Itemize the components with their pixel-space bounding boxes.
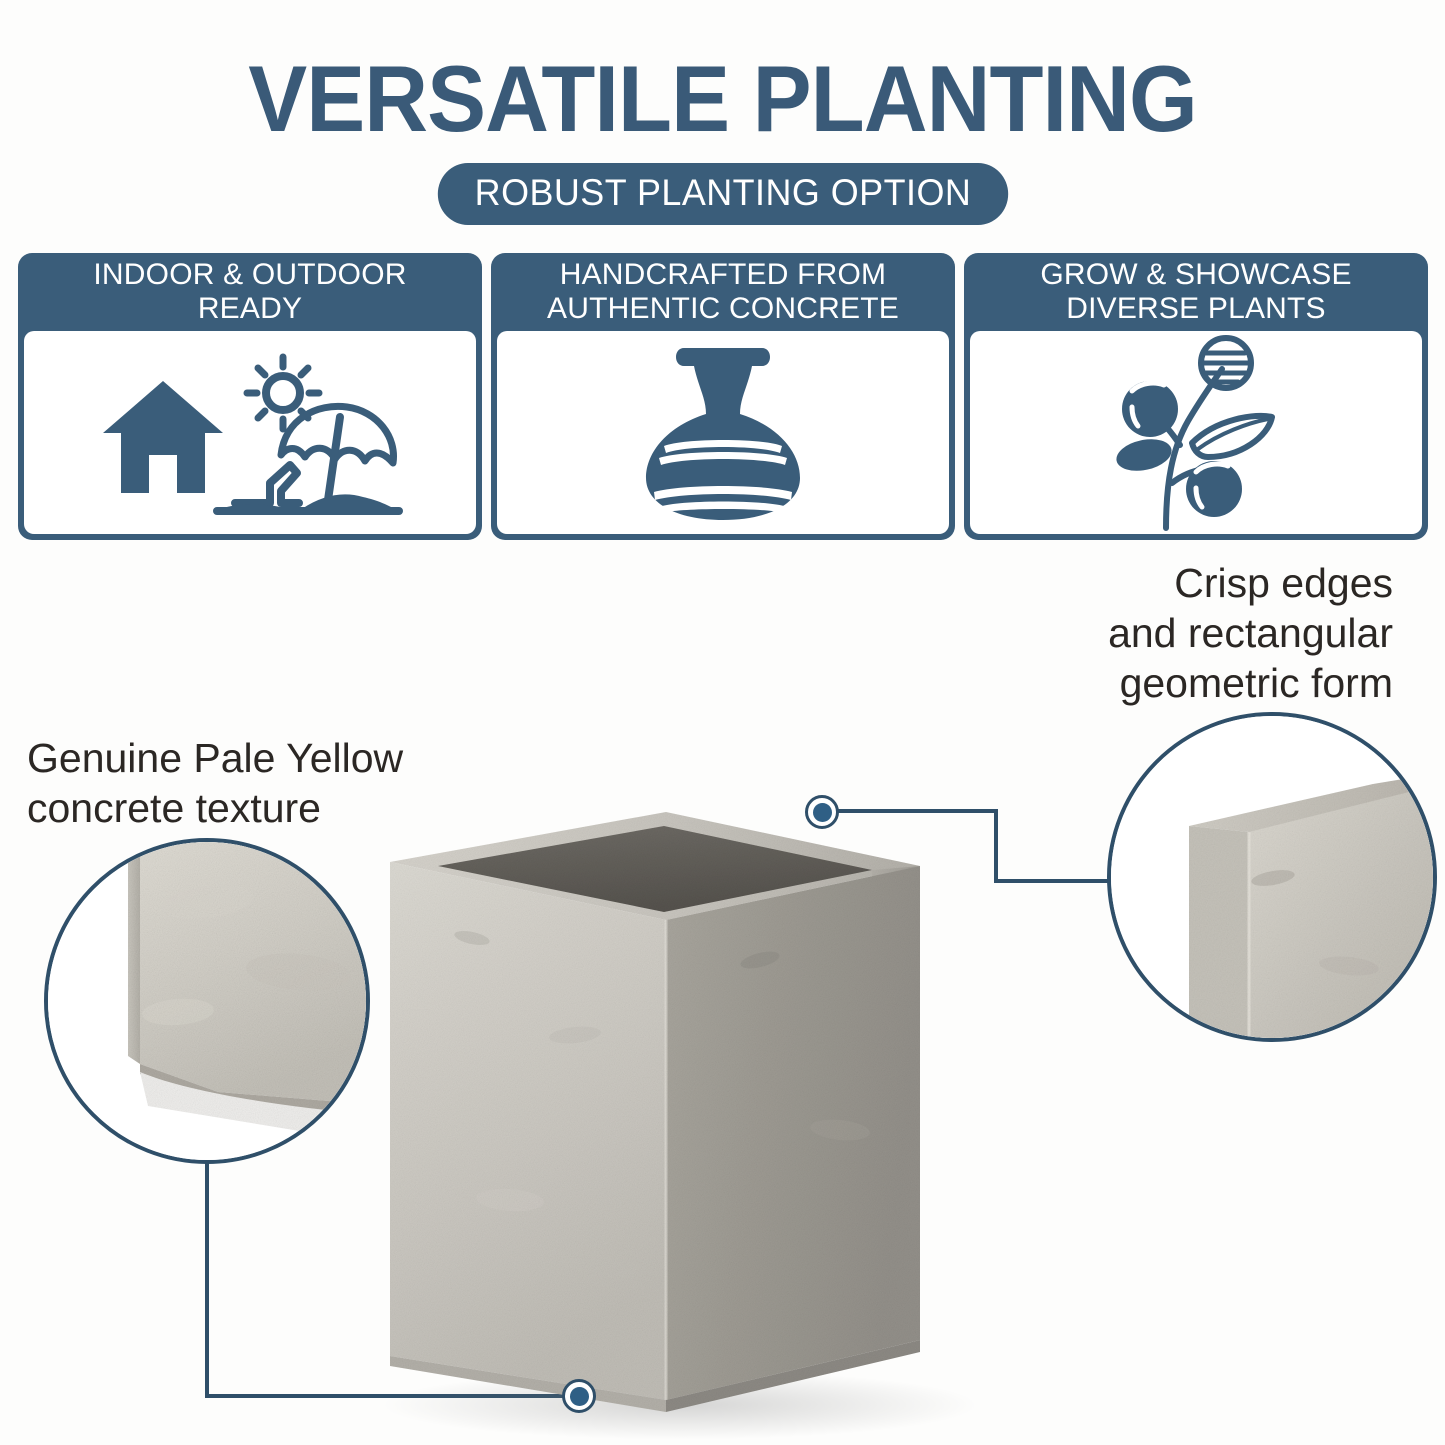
- page-title: VERSATILE PLANTING: [43, 52, 1401, 146]
- feature-icon-slot-1: [24, 331, 476, 534]
- feature-box-diverse-plants: GROW & SHOWCASE DIVERSE PLANTS: [964, 253, 1428, 540]
- callout-circle-crisp-edge: [1107, 712, 1437, 1042]
- berry-branch-plant-icon: [1096, 333, 1296, 533]
- house-sun-beach-umbrella-icon: [85, 345, 415, 520]
- connector-bottom-segment-v: [205, 1160, 209, 1398]
- feature-box-handcrafted-concrete: HANDCRAFTED FROM AUTHENTIC CONCRETE: [491, 253, 955, 540]
- infographic-canvas: VERSATILE PLANTING ROBUST PLANTING OPTIO…: [0, 0, 1445, 1445]
- feature-title-handcrafted-concrete: HANDCRAFTED FROM AUTHENTIC CONCRETE: [491, 253, 955, 331]
- feature-title-diverse-plants: GROW & SHOWCASE DIVERSE PLANTS: [964, 253, 1428, 331]
- feature-box-row: INDOOR & OUTDOOR READY: [18, 253, 1428, 540]
- subtitle-badge: ROBUST PLANTING OPTION: [437, 163, 1007, 225]
- feature-title-indoor-outdoor: INDOOR & OUTDOOR READY: [18, 253, 482, 331]
- annotation-crisp-edges: Crisp edges and rectangular geometric fo…: [1108, 558, 1393, 708]
- feature-box-indoor-outdoor: INDOOR & OUTDOOR READY: [18, 253, 482, 540]
- callout-dot-bottom-face[interactable]: [562, 1379, 596, 1413]
- feature-icon-slot-2: [497, 331, 949, 534]
- feature-icon-slot-3: [970, 331, 1422, 534]
- vase-icon: [628, 340, 818, 525]
- callout-dot-top-rim[interactable]: [805, 795, 839, 829]
- callout-circle-concrete-texture: [44, 838, 370, 1164]
- badge-row: ROBUST PLANTING OPTION: [0, 163, 1445, 225]
- annotation-concrete-texture: Genuine Pale Yellow concrete texture: [27, 733, 403, 833]
- connector-top-segment-v: [994, 809, 998, 883]
- product-planter-image: [360, 800, 980, 1445]
- connector-top-segment-h2: [994, 879, 1119, 883]
